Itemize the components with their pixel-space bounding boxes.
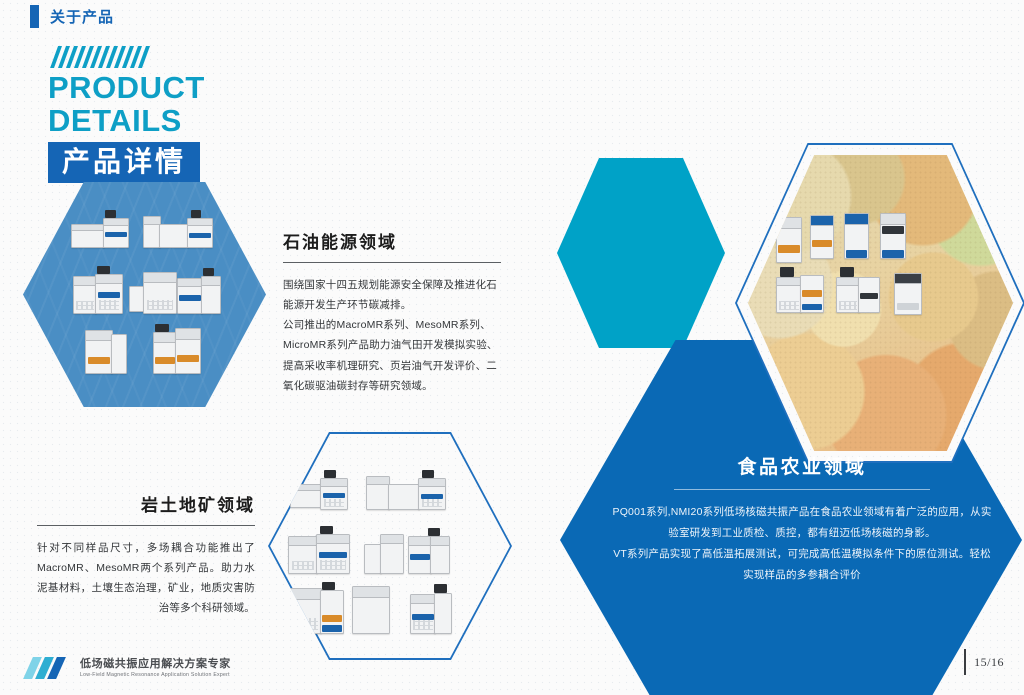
instrument-unit xyxy=(290,588,322,634)
instrument-monitor xyxy=(105,210,116,218)
instrument-monitor xyxy=(324,470,336,478)
instrument-unit xyxy=(836,277,860,313)
instrument-monitor xyxy=(428,528,440,536)
section-body-geotechnical: 针对不同样品尺寸，多场耦合功能推出了MacroMR、MesoMR两个系列产品。助… xyxy=(37,538,255,619)
section-eyebrow: 关于产品 xyxy=(30,5,114,28)
slide-page: 关于产品 PRODUCT DETAILS 产品详情 xyxy=(0,0,1024,695)
title-cn-text: 产品详情 xyxy=(62,145,186,178)
instrument-unit xyxy=(366,476,390,510)
instrument-unit xyxy=(143,272,177,314)
cyan-accent-hexagon xyxy=(557,158,725,348)
section-body-petroleum: 围绕国家十四五规划能源安全保障及推进化石能源开发生产环节碳减排。 公司推出的Ma… xyxy=(283,275,501,396)
instrument-unit xyxy=(111,334,127,374)
geotechnical-product-hexagon-image xyxy=(268,432,512,660)
title-cn-banner: 产品详情 xyxy=(48,142,200,183)
instrument-unit xyxy=(175,328,201,374)
instrument-unit xyxy=(187,218,213,248)
instrument-monitor xyxy=(203,268,214,276)
section-divider xyxy=(37,525,255,526)
section-title-petroleum: 石油能源领域 xyxy=(283,228,501,253)
section-title-geotechnical: 岩土地矿领域 xyxy=(37,491,255,516)
paragraph: 针对不同样品尺寸，多场耦合功能推出了MacroMR、MesoMR两个系列产品。助… xyxy=(37,538,255,619)
instrument-monitor xyxy=(434,584,447,593)
instrument-unit xyxy=(320,590,344,634)
footer-brand-en: Low-Field Magnetic Resonance Application… xyxy=(80,672,231,679)
instrument-unit xyxy=(388,484,420,510)
instrument-unit xyxy=(290,484,322,508)
section-divider xyxy=(283,262,501,263)
instrument-unit xyxy=(434,593,452,634)
instrument-unit xyxy=(776,277,802,313)
instrument-unit xyxy=(103,218,129,248)
instrument-unit xyxy=(316,534,350,574)
eyebrow-label: 关于产品 xyxy=(50,6,114,27)
footer-brand-text: 低场磁共振应用解决方案专家 Low-Field Magnetic Resonan… xyxy=(80,658,231,679)
instrument-unit xyxy=(380,534,404,574)
instrument-unit xyxy=(418,478,446,510)
instrument-monitor xyxy=(191,210,201,218)
paragraph: VT系列产品实现了高低温拓展测试，可完成高低温模拟条件下的原位测试。轻松实现样品… xyxy=(612,544,992,586)
page-number-text: 15/16 xyxy=(974,655,1004,670)
instrument-unit xyxy=(71,224,105,248)
instrument-unit xyxy=(858,277,880,313)
instrument-unit xyxy=(844,213,869,259)
petroleum-product-hexagon-image xyxy=(23,182,266,407)
instrument-unit xyxy=(352,586,390,634)
footer-brand-cn: 低场磁共振应用解决方案专家 xyxy=(80,658,231,672)
instrument-unit xyxy=(95,274,123,314)
paragraph: PQ001系列,NMI20系列低场核磁共振产品在食品农业领域有着广泛的应用，从实… xyxy=(612,502,992,544)
instrument-monitor xyxy=(422,470,434,478)
instrument-monitor xyxy=(840,267,854,277)
instrument-collage-geotechnical xyxy=(268,432,512,660)
instrument-unit xyxy=(408,536,432,574)
paragraph: 围绕国家十四五规划能源安全保障及推进化石能源开发生产环节碳减排。 xyxy=(283,275,501,315)
instrument-collage-petroleum xyxy=(23,182,266,407)
paragraph: 公司推出的MacroMR系列、MesoMR系列、MicroMR系列产品助力油气田… xyxy=(283,315,501,396)
section-food-agriculture: 食品农业领域 PQ001系列,NMI20系列低场核磁共振产品在食品农业领域有着广… xyxy=(612,452,992,586)
footer-brand-logo: 低场磁共振应用解决方案专家 Low-Field Magnetic Resonan… xyxy=(28,657,231,679)
page-number-rule xyxy=(964,649,966,675)
title-en-line2: DETAILS xyxy=(48,105,263,138)
title-en-line1: PRODUCT xyxy=(48,72,263,105)
section-divider xyxy=(674,489,930,490)
instrument-unit xyxy=(73,276,97,314)
instrument-unit xyxy=(153,332,177,374)
instrument-monitor xyxy=(320,526,333,534)
section-petroleum: 石油能源领域 围绕国家十四五规划能源安全保障及推进化石能源开发生产环节碳减排。 … xyxy=(283,228,501,396)
instrument-unit xyxy=(430,536,450,574)
instrument-unit xyxy=(810,215,834,259)
instrument-unit xyxy=(85,330,113,374)
instrument-monitor xyxy=(322,582,335,590)
instrument-monitor xyxy=(780,267,794,277)
page-title-block: PRODUCT DETAILS 产品详情 xyxy=(48,46,263,183)
instrument-monitor xyxy=(97,266,110,274)
instrument-unit xyxy=(320,478,348,510)
section-title-food: 食品农业领域 xyxy=(612,452,992,479)
instrument-unit xyxy=(410,594,436,634)
eyebrow-accent-bar xyxy=(30,5,39,28)
instrument-unit xyxy=(894,273,922,315)
instrument-monitor xyxy=(155,324,169,332)
instrument-unit xyxy=(159,224,189,248)
instrument-unit xyxy=(288,536,318,574)
instrument-unit xyxy=(800,275,824,313)
instrument-unit xyxy=(201,276,221,314)
instrument-unit xyxy=(177,278,203,314)
instrument-unit xyxy=(880,213,906,259)
logo-mark-icon xyxy=(23,657,75,679)
slash-decoration-icon xyxy=(50,46,267,68)
section-geotechnical: 岩土地矿领域 针对不同样品尺寸，多场耦合功能推出了MacroMR、MesoMR两… xyxy=(37,491,255,619)
section-body-food: PQ001系列,NMI20系列低场核磁共振产品在食品农业领域有着广泛的应用，从实… xyxy=(612,502,992,586)
page-number: 15/16 xyxy=(964,649,1004,675)
